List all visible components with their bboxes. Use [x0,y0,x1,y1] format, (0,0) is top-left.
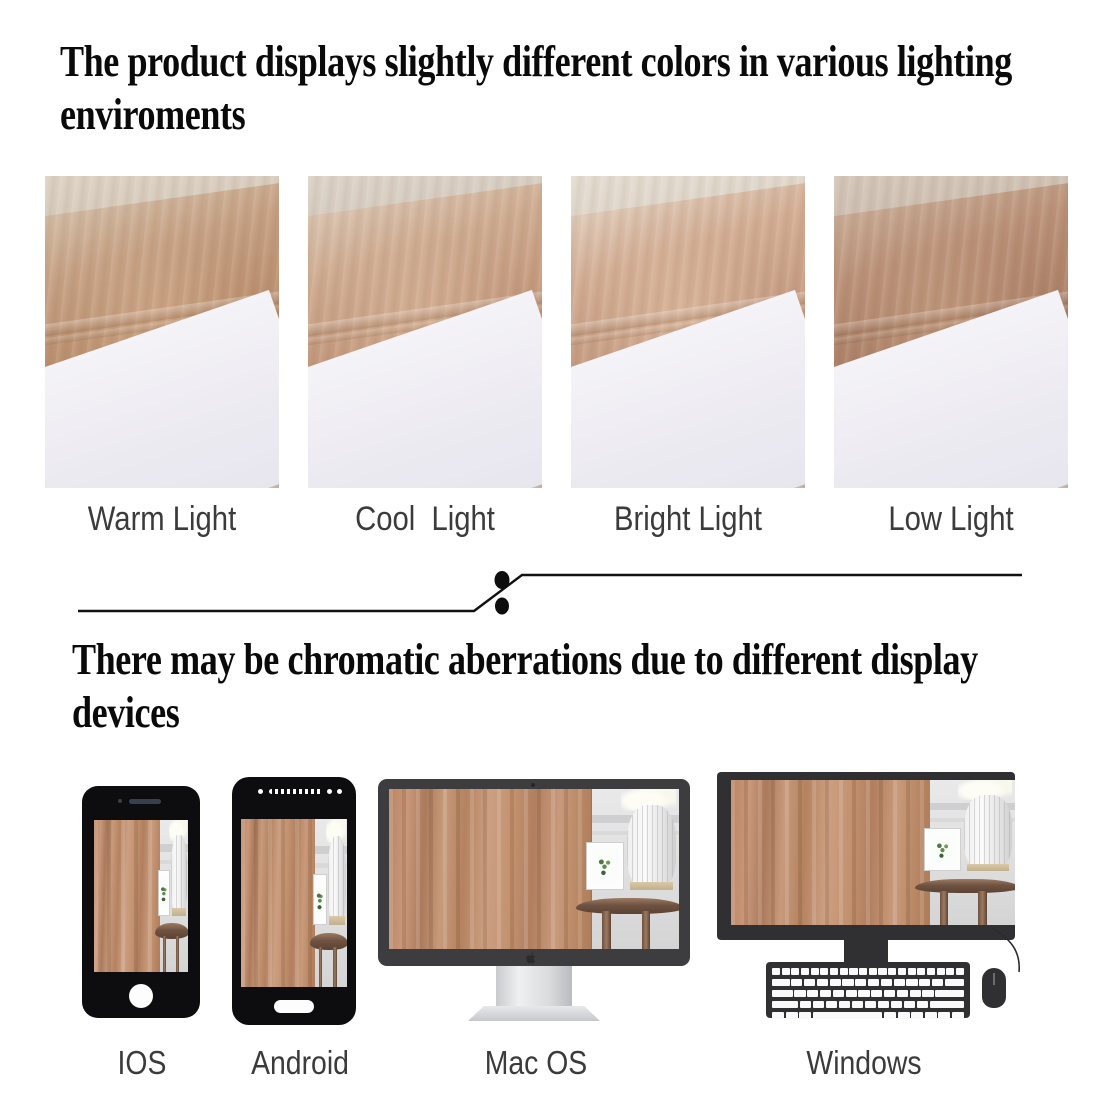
divider-line [78,575,1022,611]
section-divider [78,566,1022,618]
iphone-screen [94,820,188,972]
earpiece-speaker [129,799,161,804]
swatch-label-warm-light: Warm Light [61,500,262,539]
product-scene [731,780,1015,925]
fabric-image [308,176,542,488]
windows-screen [731,780,1015,925]
apple-logo-icon [523,951,539,965]
product-scene [241,819,347,987]
swatch-label-cool-light: Cool Light [324,500,525,539]
lighting-label-row: Warm Light Cool Light Bright Light Low L… [45,500,1060,556]
page-title-devices: There may be chromatic aberrations due t… [72,634,1056,740]
android-screen [241,819,347,987]
infographic-page: The product displays slightly different … [0,0,1100,1100]
device-android-phone [232,777,356,1025]
swatch-bright-light [571,176,805,488]
mac-bezel [378,779,690,966]
page-title-lighting: The product displays slightly different … [60,36,1060,142]
mouse[interactable] [982,968,1006,1008]
divider-dot-upper [495,571,510,589]
mac-stand-neck [496,966,572,1012]
swatch-low-light [834,176,1068,488]
swatch-warm-light [45,176,279,488]
isight-camera-icon [531,783,535,787]
fabric-image [571,176,805,488]
front-camera-icon [258,789,263,794]
home-button[interactable] [274,1000,314,1013]
monitor-bezel [717,772,1015,940]
divider-dot-lower [495,598,509,615]
swatch-cool-light [308,176,542,488]
scroll-wheel-icon [993,973,995,985]
device-iphone [82,786,200,1018]
device-label-mac-os: Mac OS [448,1044,623,1082]
monitor-stand [844,940,888,962]
lighting-swatch-row [45,176,1060,488]
product-scene [389,789,679,949]
product-scene [94,820,188,972]
front-camera-icon [118,799,122,803]
device-label-windows: Windows [771,1044,957,1082]
device-label-android: Android [216,1044,385,1082]
device-mac-display [378,779,690,1019]
home-button[interactable] [129,984,153,1008]
fabric-image [45,176,279,488]
device-windows-desktop [710,772,1022,1050]
swatch-label-low-light: Low Light [850,500,1051,539]
mac-stand-base [468,1006,600,1021]
earpiece-speaker [269,789,323,794]
proximity-sensor-icon [327,789,332,794]
mac-screen [389,789,679,949]
fabric-image [834,176,1068,488]
device-label-ios: IOS [71,1044,212,1082]
light-sensor-icon [337,789,342,794]
keyboard[interactable] [766,962,970,1018]
swatch-label-bright-light: Bright Light [587,500,788,539]
